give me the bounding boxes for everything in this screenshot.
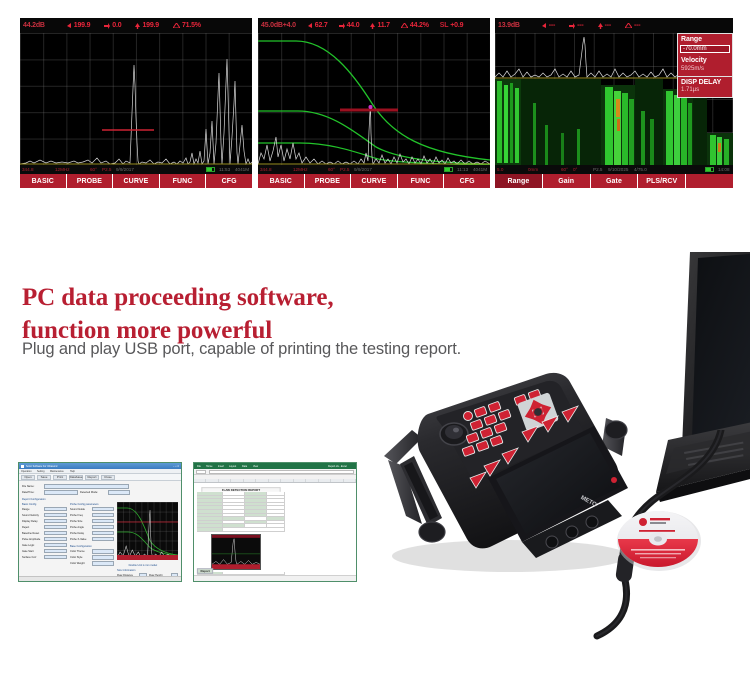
scope2-status-6: 4041M — [473, 167, 487, 173]
scope2-tab-probe[interactable]: PROBE — [305, 174, 352, 188]
detect-mode-label: Detected Mode: — [80, 491, 102, 494]
scope3-readout-soundpath: --- — [598, 22, 611, 29]
software-window-screenshot[interactable]: Sonic Software For Ultrasonic – □ ✕ Oper… — [18, 462, 182, 582]
scope-panel-a-scan[interactable]: 44.2dB 199.9 0.0 199.9 71.5% — [20, 18, 252, 188]
scope3-tab-gate[interactable]: Gate — [591, 174, 639, 188]
scope2-tab-func[interactable]: FUNC — [398, 174, 445, 188]
scope3-parameter-menu[interactable]: Range -70.0mm Velocity 5925m/s DISP DELA… — [677, 33, 733, 98]
scope2-readout-soundpath: 11.7 — [370, 22, 389, 29]
base-input-0[interactable] — [92, 549, 115, 554]
menu-label-range: Range — [678, 34, 732, 45]
menu-maintenance[interactable]: Maintenance — [50, 469, 64, 472]
column-headers[interactable] — [194, 479, 356, 483]
scope3-status-0: 5.0 — [497, 167, 503, 173]
col-J[interactable] — [306, 479, 318, 482]
basic-label-3: Reject — [22, 525, 39, 528]
menu-help[interactable]: Help — [70, 469, 75, 472]
cd-illustration — [613, 505, 703, 573]
basic-input-0[interactable] — [44, 507, 67, 512]
amplitude-icon — [625, 23, 632, 28]
probe-field-row[interactable]: Probe Size — [70, 519, 115, 524]
base-input-2[interactable] — [92, 561, 115, 566]
scope3-tabbar[interactable]: Range Gain Gate PLS/RCV — [495, 174, 733, 188]
scope1-status-2: 60° — [90, 167, 97, 173]
menu-value-range[interactable]: -70.0mm — [680, 45, 730, 54]
basic-label-8: Surface Corr — [22, 555, 39, 558]
depth-icon — [308, 23, 313, 29]
scope2-statusbar: 344.8 12MHz 60° P2.5 9/9/2017 11:13 4041… — [258, 165, 490, 174]
scope1-tab-curve[interactable]: CURVE — [113, 174, 160, 188]
software-title: Sonic Software For Ultrasonic — [26, 464, 58, 467]
scope2-status-0: 344.8 — [260, 167, 272, 173]
scope2-header: 45.0dB+4.0 62.7 44.0 11.7 44.2% — [258, 18, 490, 33]
base-field-row[interactable]: Color Weight — [70, 561, 115, 566]
window-controls[interactable]: – □ ✕ — [173, 464, 179, 467]
depth-icon — [542, 23, 547, 29]
scope2-status-3: P2.5 — [340, 167, 349, 173]
col-D[interactable] — [231, 479, 243, 482]
software-statusbar — [19, 576, 181, 581]
excel-doc-title: Report.xls - Excel — [328, 464, 350, 467]
basic-field-row[interactable]: Sound Velocity — [22, 513, 67, 518]
scope3-status-4: P2.5 — [593, 167, 602, 173]
menu-label-velocity: Velocity — [678, 55, 732, 66]
scope1-status-6: 4041M — [235, 167, 249, 173]
ribbon-home[interactable]: Home — [206, 464, 212, 467]
battery-icon — [206, 167, 215, 172]
ribbon-view[interactable]: View — [253, 464, 258, 467]
probe-label-0: Sound Guide — [70, 507, 87, 510]
col-B[interactable] — [206, 479, 218, 482]
scope1-readout-soundpath: 199.9 — [135, 22, 159, 29]
scope1-tab-cfg[interactable]: CFG — [206, 174, 252, 188]
col-I[interactable] — [294, 479, 306, 482]
date-time-input[interactable] — [44, 490, 78, 495]
double-unit-checkbox[interactable]: Double Unit is mm model — [117, 563, 169, 566]
basic-field-row[interactable]: Baseline Reset — [22, 531, 67, 536]
basic-label-2: Display Delay — [22, 519, 39, 522]
basic-label-1: Sound Velocity — [22, 513, 39, 516]
col-G[interactable] — [269, 479, 281, 482]
scope3-status-6: 4/75.0 — [634, 167, 647, 173]
scope1-plot — [20, 33, 252, 165]
basic-field-row[interactable]: Gate Start — [22, 549, 67, 554]
toolbar-save[interactable]: Save — [37, 475, 51, 480]
offset-icon — [569, 23, 575, 29]
scope1-tabbar[interactable]: BASIC PROBE CURVE FUNC CFG — [20, 174, 252, 188]
scope3-readout-offset: --- — [569, 22, 583, 29]
base-config-title: Base Configuration — [70, 544, 108, 547]
probe-label-5: Probe X-Value — [70, 537, 87, 540]
col-F[interactable] — [256, 479, 268, 482]
offset-icon — [339, 23, 345, 29]
probe-input-4[interactable] — [92, 531, 115, 536]
probe-label-2: Probe Size — [70, 519, 87, 522]
probe-input-1[interactable] — [92, 513, 115, 518]
scope2-status-4: 9/9/2017 — [354, 167, 372, 173]
probe-field-row[interactable]: Probe Angle — [70, 525, 115, 530]
scope2-tab-basic[interactable]: BASIC — [258, 174, 305, 188]
scope2-readout-sl: SL +0.9 — [440, 22, 464, 29]
size-info-title: Size Information — [117, 568, 169, 571]
date-time-row[interactable]: Date/Time: Detected Mode: — [22, 490, 178, 495]
basic-label-7: Gate Start — [22, 549, 39, 552]
toolbar-open[interactable]: Open — [21, 475, 35, 480]
detect-mode-input[interactable] — [108, 490, 130, 495]
probe-input-0[interactable] — [92, 507, 115, 512]
scope2-status-1: 12MHz — [293, 167, 308, 173]
basic-field-row[interactable]: Display Delay — [22, 519, 67, 524]
offset-icon — [104, 23, 110, 29]
embedded-waveform-view — [117, 502, 178, 560]
report-doc-title: FLAW DETECTION REPORT — [201, 487, 280, 492]
menu-label-disp-delay: DISP DELAY — [678, 77, 732, 88]
menu-setting[interactable]: Setting — [37, 469, 44, 472]
battery-icon — [444, 167, 453, 172]
menu-item-velocity[interactable]: Velocity 5925m/s — [678, 55, 732, 76]
menu-item-range[interactable]: Range -70.0mm — [678, 34, 732, 53]
scope2-tab-curve[interactable]: CURVE — [351, 174, 398, 188]
report-waveform — [212, 535, 260, 569]
probe-field-row[interactable]: Probe X-Value — [70, 537, 115, 542]
basic-field-row[interactable]: Surface Corr — [22, 555, 67, 560]
page-root: 44.2dB 199.9 0.0 199.9 71.5% — [0, 0, 750, 674]
file-name-input[interactable] — [44, 484, 129, 489]
scope3-tab-pls-rcv[interactable]: PLS/RCV — [638, 174, 686, 188]
scope3-tab-empty[interactable] — [686, 174, 733, 188]
col-C[interactable] — [219, 479, 231, 482]
file-name-label: File Name: — [22, 485, 39, 488]
sound-path-icon — [598, 23, 603, 29]
page-subtitle: Plug and play USB port, capable of print… — [22, 340, 461, 359]
scope2-gain: 45.0dB+4.0 — [261, 22, 296, 29]
scope2-plot — [258, 33, 490, 165]
basic-input-8[interactable] — [44, 555, 67, 560]
scope2-readout-offset: 44.0 — [339, 22, 360, 29]
scope3-status-3: 0° — [573, 167, 577, 173]
probe-field-row[interactable]: Probe Delay — [70, 531, 115, 536]
sound-path-icon — [135, 23, 140, 29]
probe-field-row[interactable]: Probe Freq — [70, 513, 115, 518]
scope3-statusbar: 5.0 0mm 60° 0° P2.5 9/10/2025 4/75.0 14:… — [495, 165, 733, 174]
scope1-status-4: 9/9/2017 — [116, 167, 134, 173]
probe-input-2[interactable] — [92, 519, 115, 524]
probe-config-title: Probe Config parameters — [70, 502, 108, 505]
sheet-tab-bar[interactable]: Report — [196, 568, 214, 574]
base-label-2: Color Weight — [70, 562, 87, 565]
basic-field-row[interactable]: Gate Logic — [22, 543, 67, 548]
basic-label-5: Pulse Amplitude — [22, 537, 39, 540]
basic-input-3[interactable] — [44, 525, 67, 530]
base-label-1: Color Style — [70, 556, 87, 559]
toolbar-close[interactable]: Close — [101, 475, 115, 480]
basic-input-2[interactable] — [44, 519, 67, 524]
file-name-row[interactable]: File Name: — [22, 484, 178, 489]
scope1-tab-func[interactable]: FUNC — [160, 174, 207, 188]
scope3-status-2: 60° — [561, 167, 568, 173]
col-L[interactable] — [331, 479, 343, 482]
scope3-header: 13.9dB --- --- --- --- — [495, 18, 733, 33]
battery-icon — [705, 167, 714, 172]
scope2-tabbar[interactable]: BASIC PROBE CURVE FUNC CFG — [258, 174, 490, 188]
basic-input-7[interactable] — [44, 549, 67, 554]
table-row[interactable] — [197, 528, 285, 532]
ribbon-file[interactable]: File — [197, 464, 201, 467]
basic-input-6[interactable] — [44, 543, 67, 548]
probe-label-4: Probe Delay — [70, 531, 87, 534]
toolbar-print[interactable]: Print — [53, 475, 67, 480]
app-icon — [21, 465, 24, 468]
name-box[interactable] — [196, 470, 206, 474]
scope1-tab-basic[interactable]: BASIC — [20, 174, 67, 188]
probe-label-1: Probe Freq — [70, 513, 87, 516]
basic-input-1[interactable] — [44, 513, 67, 518]
scope3-readout-depth: --- — [542, 22, 555, 29]
base-field-row[interactable]: Color Style — [70, 555, 115, 560]
software-toolbar[interactable]: Open Save Print Database Report Close — [19, 474, 181, 481]
scope1-statusbar: 344.8 12MHz 60° P2.5 9/9/2017 11:53 4041… — [20, 165, 252, 174]
menu-item-disp-delay[interactable]: DISP DELAY 1.71µs — [678, 77, 732, 97]
depth-icon — [67, 23, 72, 29]
sl-icon: SL — [440, 22, 449, 29]
scope1-status-0: 344.8 — [22, 167, 34, 173]
scope2-status-5: 11:13 — [457, 167, 468, 173]
basic-field-row[interactable]: Range — [22, 507, 67, 512]
ribbon-data[interactable]: Data — [242, 464, 247, 467]
scope1-header: 44.2dB 199.9 0.0 199.9 71.5% — [20, 18, 252, 33]
toolbar-database[interactable]: Database — [69, 475, 83, 480]
scope1-readout-amplitude: 71.5% — [173, 22, 201, 29]
report-config-title: Report Configuration — [22, 497, 155, 500]
menu-operation[interactable]: Operation — [21, 469, 32, 472]
toolbar-report[interactable]: Report — [85, 475, 99, 480]
scope1-waveform — [20, 33, 252, 165]
scope2-tab-cfg[interactable]: CFG — [444, 174, 490, 188]
scope1-status-5: 11:53 — [219, 167, 230, 173]
scope3-gain: 13.9dB — [498, 22, 520, 29]
scope3-status-7: 14:08 — [718, 167, 730, 173]
probe-input-5[interactable] — [92, 537, 115, 542]
scope1-status-3: P2.5 — [102, 167, 111, 173]
formula-bar[interactable] — [209, 470, 354, 474]
scope1-status-1: 12MHz — [55, 167, 70, 173]
probe-field-row[interactable]: Sound Guide — [70, 507, 115, 512]
basic-input-4[interactable] — [44, 531, 67, 536]
scope3-tab-range[interactable]: Range — [495, 174, 543, 188]
excel-sheet[interactable]: FLAW DETECTION REPORT — [194, 479, 356, 575]
scope2-readout-amplitude: 44.2% — [401, 22, 429, 29]
scope2-dac-curves — [258, 33, 490, 165]
scope3-readout-amplitude: --- — [625, 22, 640, 29]
report-waveform-thumbnail — [211, 534, 261, 570]
basic-config-title: Basic Config — [22, 502, 60, 505]
base-label-0: Color Theme — [70, 550, 87, 553]
excel-toolbar[interactable] — [194, 469, 356, 475]
basic-label-6: Gate Logic — [22, 543, 39, 546]
base-field-row[interactable]: Color Theme — [70, 549, 115, 554]
basic-label-0: Range — [22, 507, 39, 510]
report-window-screenshot[interactable]: File Home Insert Layout Data View Report… — [193, 462, 357, 582]
excel-statusbar — [194, 575, 356, 581]
probe-input-3[interactable] — [92, 525, 115, 530]
software-cd-photo — [613, 505, 703, 573]
scope-panel-dac-curve[interactable]: 45.0dB+4.0 62.7 44.0 11.7 44.2% — [258, 18, 490, 188]
headline-line-1: PC data proceeding software, — [22, 281, 334, 314]
scope2-status-2: 60° — [328, 167, 335, 173]
scope1-tab-probe[interactable]: PROBE — [67, 174, 114, 188]
scope3-status-5: 9/10/2025 — [608, 167, 628, 173]
scope1-readout-depth: 199.9 — [67, 22, 91, 29]
amplitude-icon — [173, 23, 180, 28]
date-time-label: Date/Time: — [22, 491, 39, 494]
col-K[interactable] — [319, 479, 331, 482]
col-M[interactable] — [344, 479, 356, 482]
probe-label-3: Probe Angle — [70, 525, 87, 528]
embedded-waveform — [117, 502, 178, 560]
basic-field-row[interactable]: Reject — [22, 525, 67, 530]
basic-input-5[interactable] — [44, 537, 67, 542]
sound-path-icon — [370, 23, 375, 29]
base-input-1[interactable] — [92, 555, 115, 560]
basic-label-4: Baseline Reset — [22, 531, 39, 534]
col-A[interactable] — [194, 479, 206, 482]
scope3-status-1: 0mm — [528, 167, 538, 173]
col-E[interactable] — [244, 479, 256, 482]
scope2-readout-depth: 62.7 — [308, 22, 328, 29]
scope-panel-b-scan[interactable]: 13.9dB --- --- --- --- — [495, 18, 733, 188]
scope1-gain: 44.2dB — [23, 22, 45, 29]
col-H[interactable] — [281, 479, 293, 482]
menu-value-disp-delay[interactable]: 1.71µs — [678, 87, 732, 97]
ribbon-layout[interactable]: Layout — [229, 464, 236, 467]
basic-field-row[interactable]: Pulse Amplitude — [22, 537, 67, 542]
ribbon-insert[interactable]: Insert — [218, 464, 224, 467]
scope1-readout-offset: 0.0 — [104, 22, 121, 29]
page-title: PC data proceeding software, function mo… — [22, 281, 334, 347]
menu-value-velocity[interactable]: 5925m/s — [678, 66, 732, 77]
scope3-tab-gain[interactable]: Gain — [543, 174, 591, 188]
software-body: File Name: Date/Time: Detected Mode: Rep… — [19, 481, 181, 576]
sheet-tab-report[interactable]: Report — [197, 568, 213, 573]
amplitude-icon — [401, 23, 408, 28]
